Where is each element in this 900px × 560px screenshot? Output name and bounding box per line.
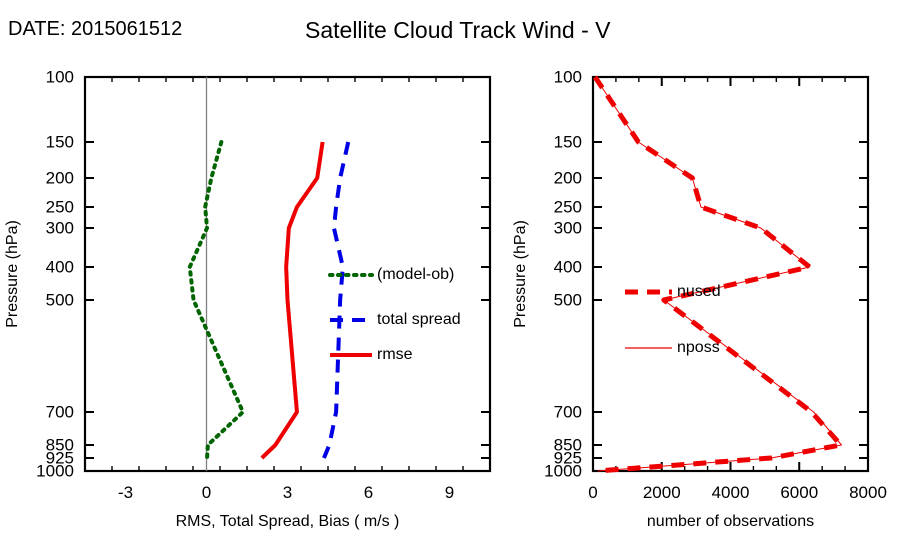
legend-label-nposs: nposs bbox=[677, 339, 720, 356]
ytick-label: 1000 bbox=[36, 461, 74, 480]
yaxis-title: Pressure (hPa) bbox=[4, 220, 21, 328]
xtick-label: 6 bbox=[364, 483, 373, 502]
xtick-label: 3 bbox=[283, 483, 292, 502]
xaxis-title: number of observations bbox=[647, 513, 814, 530]
series-rmse bbox=[262, 142, 323, 458]
ytick-label: 1000 bbox=[544, 461, 582, 480]
xtick-label: 4000 bbox=[712, 483, 750, 502]
series-total-spread bbox=[324, 142, 348, 458]
ytick-label: 500 bbox=[554, 290, 582, 309]
ytick-label: 100 bbox=[46, 67, 74, 86]
xtick-label: 0 bbox=[588, 483, 597, 502]
xaxis-title: RMS, Total Spread, Bias ( m/s ) bbox=[176, 513, 400, 530]
series-nused bbox=[595, 77, 841, 471]
legend-label-rmse: rmse bbox=[377, 346, 413, 363]
plot-canvas: 1001502002503004005007008509251000-30369… bbox=[0, 0, 900, 560]
xtick-label: 2000 bbox=[643, 483, 681, 502]
ytick-label: 250 bbox=[554, 197, 582, 216]
legend-label-nused: nused bbox=[677, 283, 721, 300]
xtick-label: -3 bbox=[118, 483, 133, 502]
ytick-label: 500 bbox=[46, 290, 74, 309]
ytick-label: 400 bbox=[554, 257, 582, 276]
series--model-ob- bbox=[190, 142, 243, 458]
ytick-label: 150 bbox=[554, 132, 582, 151]
ytick-label: 150 bbox=[46, 132, 74, 151]
ytick-label: 300 bbox=[46, 218, 74, 237]
xtick-label: 0 bbox=[202, 483, 211, 502]
xtick-label: 8000 bbox=[849, 483, 887, 502]
ytick-label: 100 bbox=[554, 67, 582, 86]
ytick-label: 250 bbox=[46, 197, 74, 216]
xtick-label: 6000 bbox=[780, 483, 818, 502]
yaxis-title: Pressure (hPa) bbox=[512, 220, 529, 328]
ytick-label: 700 bbox=[46, 402, 74, 421]
ytick-label: 200 bbox=[554, 168, 582, 187]
xtick-label: 9 bbox=[445, 483, 454, 502]
ytick-label: 700 bbox=[554, 402, 582, 421]
legend-label--model-ob-: (model-ob) bbox=[377, 266, 454, 283]
ytick-label: 400 bbox=[46, 257, 74, 276]
ytick-label: 200 bbox=[46, 168, 74, 187]
legend-label-total-spread: total spread bbox=[377, 311, 461, 328]
ytick-label: 300 bbox=[554, 218, 582, 237]
chart-page: DATE: 2015061512 Satellite Cloud Track W… bbox=[0, 0, 900, 560]
